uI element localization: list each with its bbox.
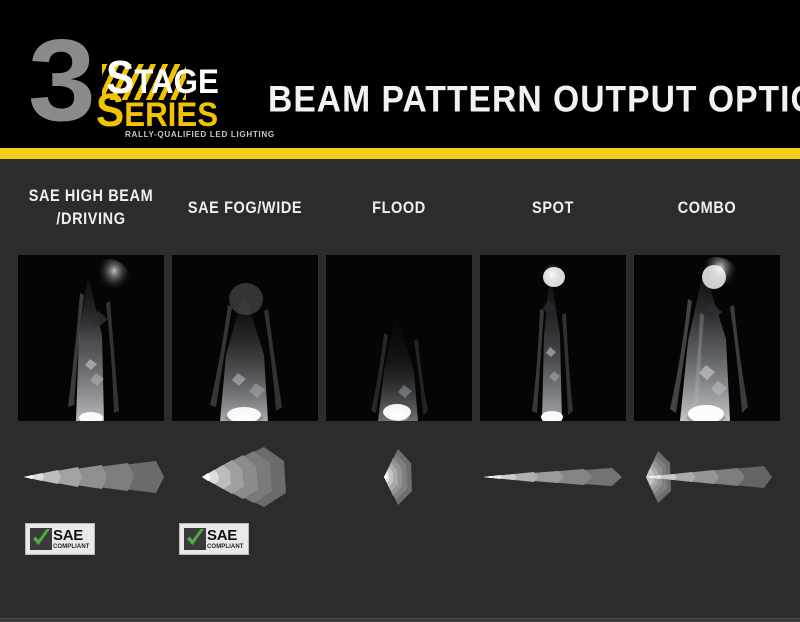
beam-spread-diagram-driving (18, 441, 164, 513)
checkmark-icon (30, 528, 52, 550)
beam-column-label-line1: FLOOD (372, 199, 426, 217)
beam-column-label-line1: SAE FOG/WIDE (188, 199, 302, 217)
beam-spread-diagram-flood (326, 441, 472, 513)
sae-badge-sub-label: COMPLIANT (53, 544, 90, 550)
beam-photo-spot (480, 255, 626, 421)
beam-spread-diagram-fog-wide (172, 441, 318, 513)
sae-badge-main-label: SAE (53, 528, 90, 543)
beam-column-label: SAE FOG/WIDE (172, 197, 318, 220)
beam-photo-flood (326, 255, 472, 421)
beam-column-label: SPOT (480, 197, 626, 220)
beam-photo-fog-wide (172, 255, 318, 421)
sae-compliant-badge: SAE COMPLIANT (179, 523, 249, 555)
beam-spread-diagram-combo (634, 441, 780, 513)
logo-numeral-3: 3 (28, 22, 92, 138)
logo-word-series: SERIES (96, 87, 218, 133)
beam-column-label: SAE HIGH BEAM /DRIVING (18, 185, 164, 231)
sae-badge-main-label: SAE (207, 528, 244, 543)
sae-badge-text: SAE COMPLIANT (207, 528, 244, 550)
beam-pattern-infographic: 3 STAGE SERIES RALLY-QUALIFIED LED LIGHT… (0, 0, 800, 622)
logo-tagline: RALLY-QUALIFIED LED LIGHTING (125, 129, 275, 139)
beam-spread-diagram-spot (480, 441, 626, 513)
bottom-edge-line (0, 618, 800, 622)
beam-column-label-line1: COMBO (678, 199, 737, 217)
beam-column-label-line1: SAE HIGH BEAM (29, 187, 154, 205)
beam-photo-combo (634, 255, 780, 421)
beam-column-label: FLOOD (326, 197, 472, 220)
sae-compliant-badge: SAE COMPLIANT (25, 523, 95, 555)
brand-logo: 3 STAGE SERIES RALLY-QUALIFIED LED LIGHT… (28, 26, 268, 136)
beam-column-label-line1: SPOT (532, 199, 574, 217)
logo-series-capital: S (96, 84, 124, 136)
sae-badge-text: SAE COMPLIANT (53, 528, 90, 550)
sae-badge-sub-label: COMPLIANT (207, 544, 244, 550)
checkmark-icon (184, 528, 206, 550)
accent-divider-stripe (0, 148, 800, 159)
beam-column-label-line2: /DRIVING (56, 210, 125, 228)
header-bar: 3 STAGE SERIES RALLY-QUALIFIED LED LIGHT… (0, 0, 800, 148)
page-title: BEAM PATTERN OUTPUT OPTIONS (268, 78, 800, 121)
beam-pattern-columns: SAE HIGH BEAM /DRIVING (0, 159, 800, 614)
beam-photo-driving (18, 255, 164, 421)
beam-column-label: COMBO (634, 197, 780, 220)
